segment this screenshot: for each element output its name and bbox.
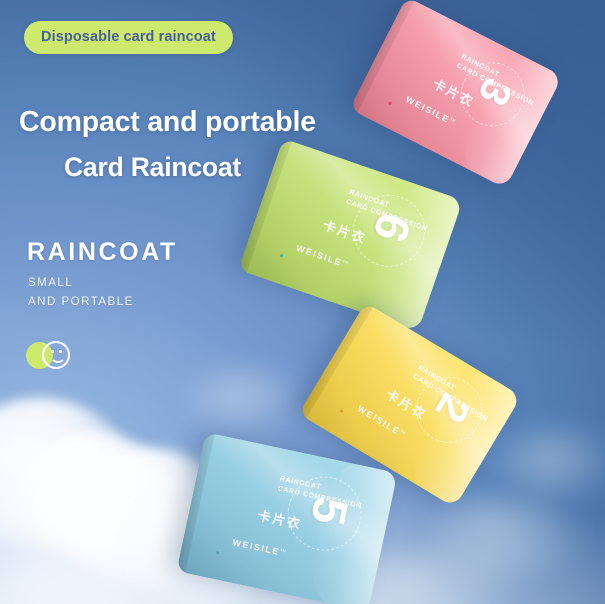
smiley-logo [26, 340, 72, 370]
badge-disposable-card-raincoat: Disposable card raincoat [24, 21, 233, 54]
smile-icon [50, 353, 66, 363]
headline-line-1: Compact and portable [19, 106, 316, 139]
subhead-line-2: AND PORTABLE [28, 296, 134, 308]
smiley-face-icon [42, 341, 70, 369]
headline-line-2: Card Raincoat [64, 152, 241, 183]
advertisement-banner: Disposable card raincoat Compact and por… [0, 0, 605, 604]
cloud-wisp [496, 432, 605, 494]
subhead-line-1: SMALL [28, 277, 73, 289]
subhead-title: RAINCOAT [27, 238, 178, 267]
cloud-wisp [186, 372, 306, 422]
